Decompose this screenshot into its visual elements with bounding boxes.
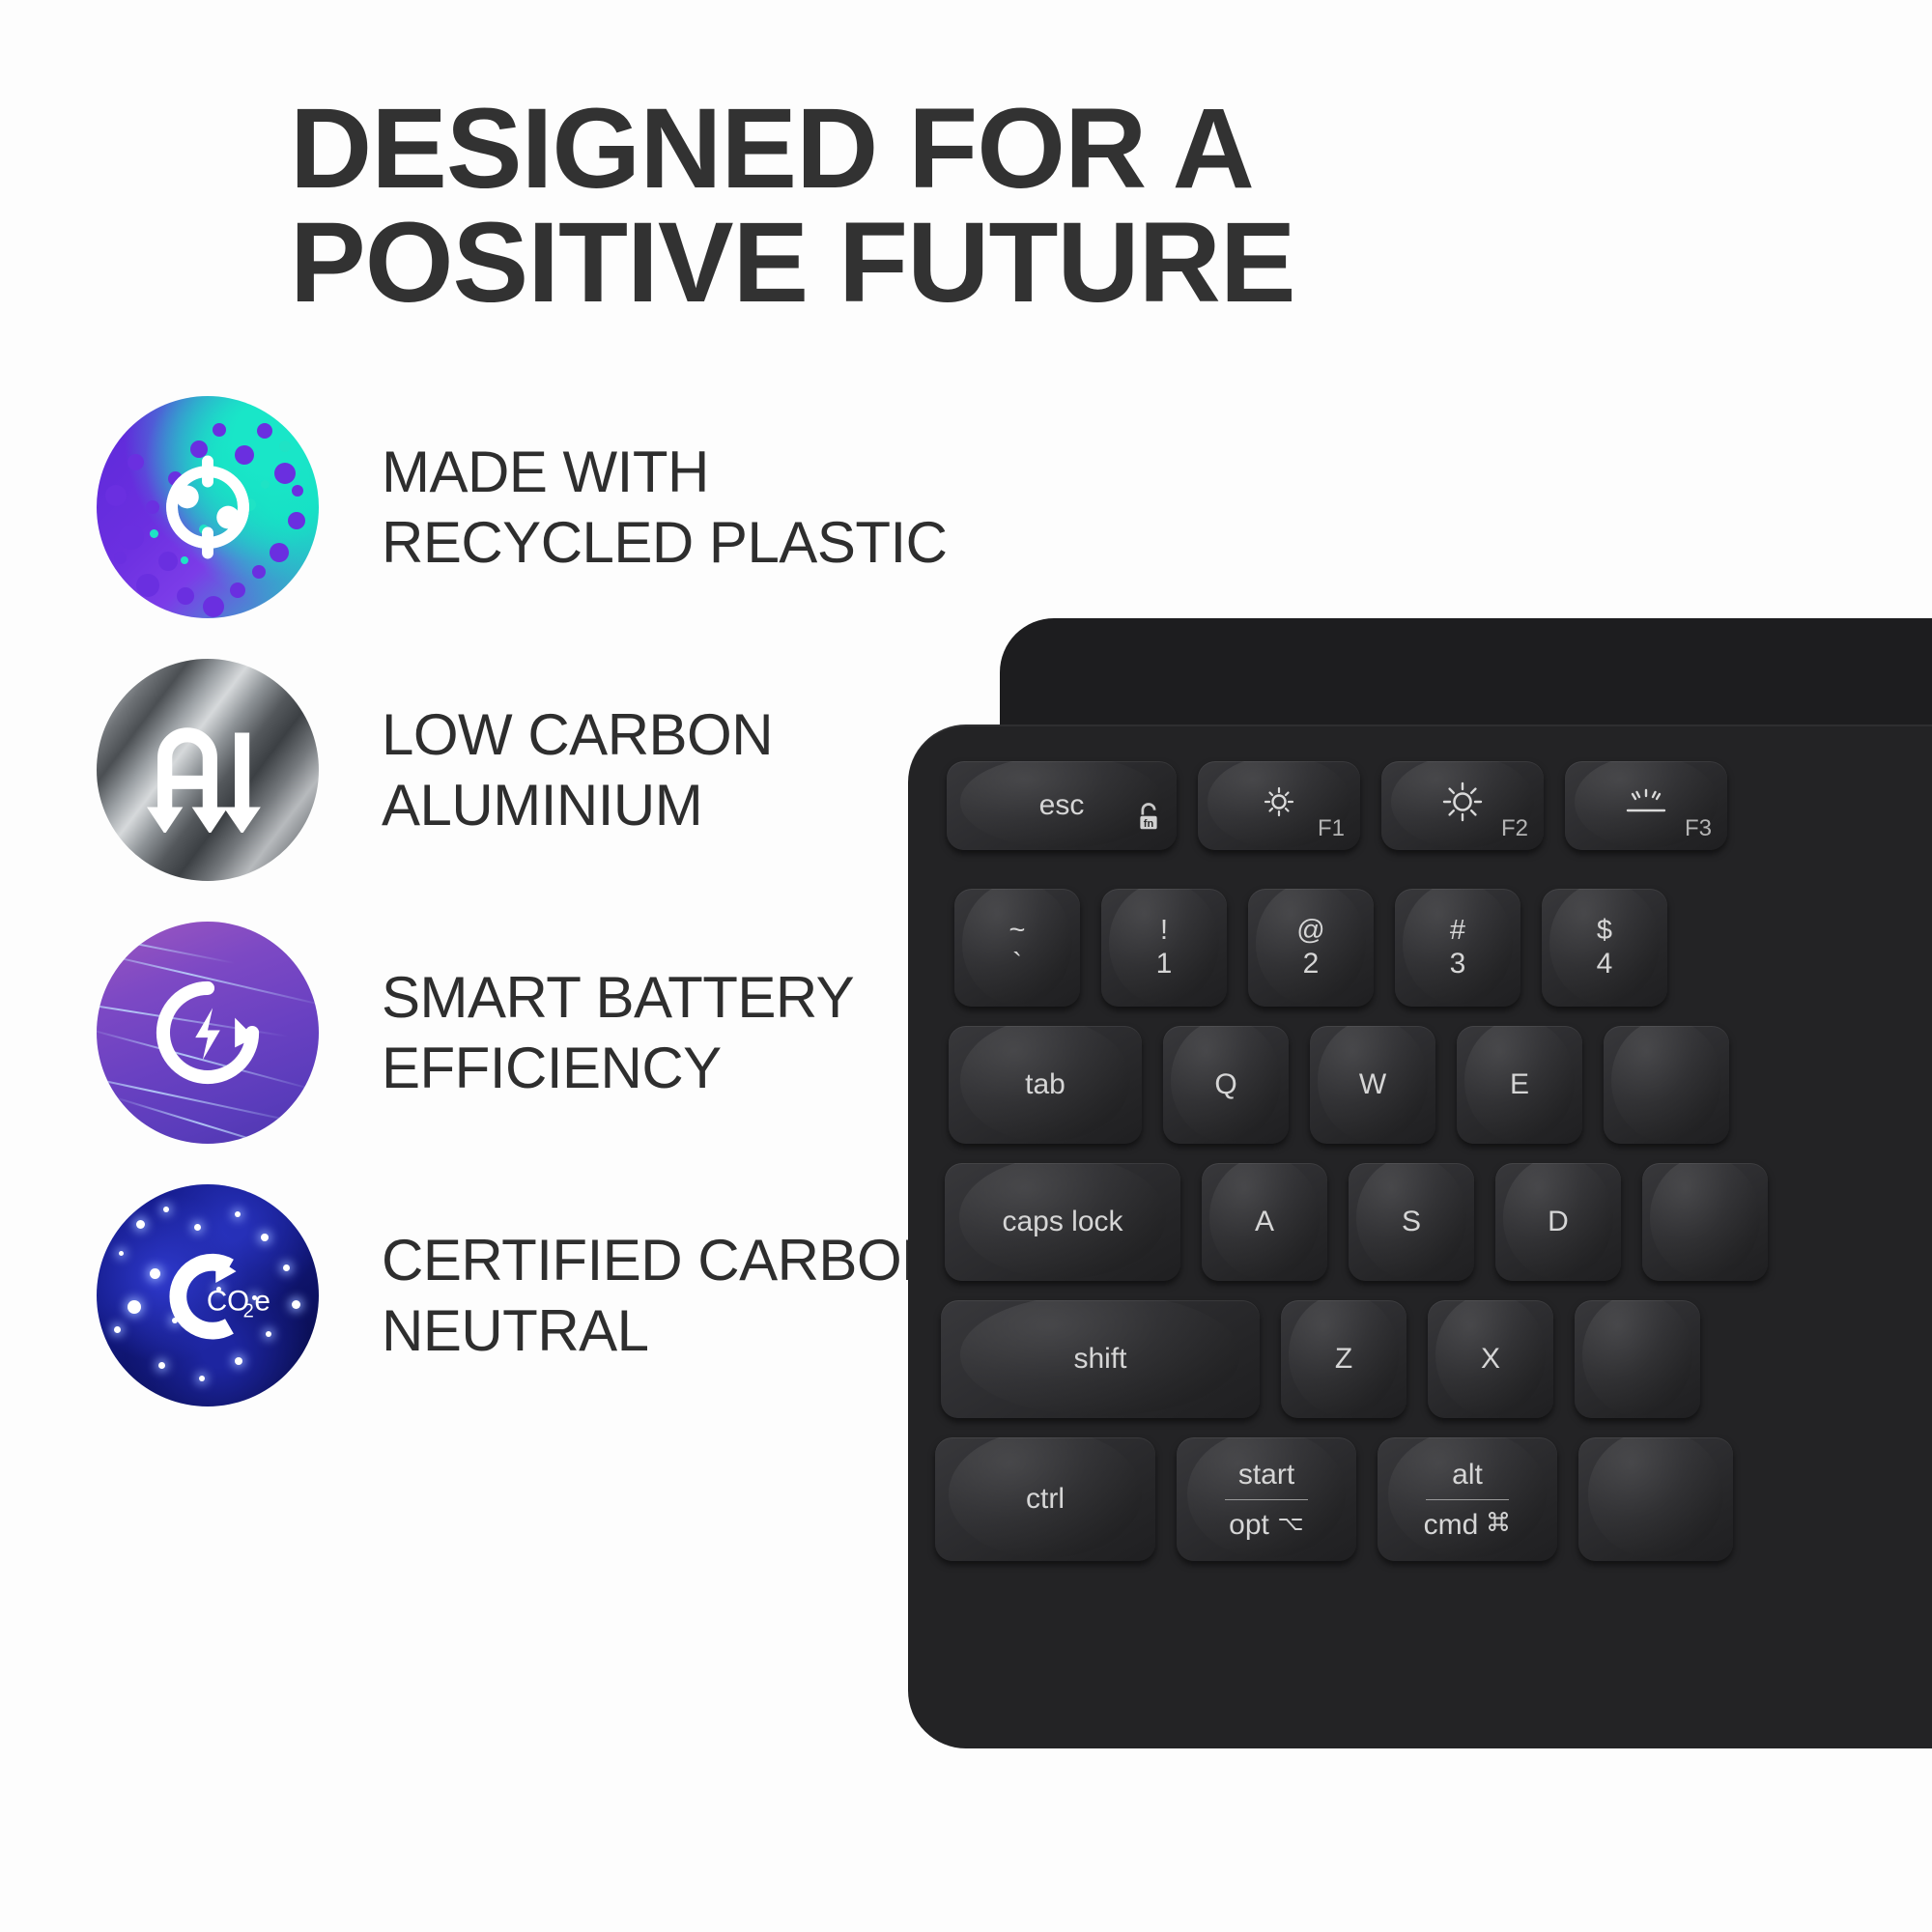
feature-label-line-1: SMART BATTERY <box>382 962 854 1033</box>
key-e[interactable]: E <box>1457 1026 1582 1144</box>
key-start-opt[interactable]: start opt <box>1177 1437 1356 1561</box>
recycled-plastic-icon <box>97 396 319 618</box>
key-f3-label: F3 <box>1685 815 1712 842</box>
key-ctrl-label: ctrl <box>1026 1483 1065 1516</box>
feature-list: MADE WITH RECYCLED PLASTIC <box>97 396 947 1447</box>
keyboard-backlight-icon <box>1620 785 1672 826</box>
key-a-label: A <box>1255 1206 1274 1238</box>
key-f1[interactable]: F1 <box>1198 761 1360 850</box>
page-title-line-1: DESIGNED FOR A <box>290 92 1642 206</box>
brightness-down-icon <box>1260 782 1298 829</box>
key-d-label: D <box>1548 1206 1569 1238</box>
key-4[interactable]: $ 4 <box>1542 889 1667 1007</box>
key-4-top: $ <box>1597 914 1612 947</box>
brightness-up-icon <box>1439 779 1486 833</box>
keyboard-row-asdf: caps lock A S D <box>945 1163 1789 1281</box>
command-icon <box>1486 1506 1511 1544</box>
aluminium-arrows-glyph <box>97 659 319 881</box>
feature-label-line-2: ALUMINIUM <box>382 770 773 840</box>
key-tab[interactable]: tab <box>949 1026 1142 1144</box>
svg-text:fn: fn <box>1144 818 1154 830</box>
key-1-bottom: 1 <box>1156 947 1173 980</box>
svg-text:e: e <box>254 1285 270 1317</box>
key-shift-label: shift <box>1073 1343 1126 1376</box>
key-alt-label: alt <box>1452 1456 1483 1493</box>
feature-item-recycled-plastic: MADE WITH RECYCLED PLASTIC <box>97 396 947 618</box>
key-1-top: ! <box>1160 914 1168 947</box>
key-w-label: W <box>1359 1068 1386 1101</box>
fn-lock-icon: fn <box>1134 802 1163 840</box>
key-c[interactable] <box>1575 1300 1700 1418</box>
feature-item-low-carbon-aluminium: LOW CARBON ALUMINIUM <box>97 659 947 881</box>
co2e-glyph: CO 2 e <box>97 1184 319 1406</box>
key-1[interactable]: ! 1 <box>1101 889 1227 1007</box>
key-f[interactable] <box>1642 1163 1768 1281</box>
feature-item-smart-battery: SMART BATTERY EFFICIENCY <box>97 922 947 1144</box>
key-spacebar[interactable] <box>1578 1437 1733 1561</box>
key-divider <box>1426 1499 1509 1500</box>
feature-label-smart-battery: SMART BATTERY EFFICIENCY <box>382 962 854 1103</box>
feature-label-line-1: MADE WITH <box>382 437 948 507</box>
recycle-loop-glyph <box>97 396 319 618</box>
feature-label-low-carbon-aluminium: LOW CARBON ALUMINIUM <box>382 699 773 840</box>
key-s[interactable]: S <box>1349 1163 1474 1281</box>
feature-label-line-1: CERTIFIED CARBON <box>382 1225 943 1295</box>
key-esc-label: esc <box>1039 789 1085 822</box>
feature-label-line-2: NEUTRAL <box>382 1295 943 1366</box>
svg-text:2: 2 <box>243 1300 254 1321</box>
key-opt-label: opt <box>1229 1506 1269 1544</box>
key-alt-cmd[interactable]: alt cmd <box>1378 1437 1557 1561</box>
low-carbon-aluminium-icon <box>97 659 319 881</box>
key-4-bottom: 4 <box>1597 947 1613 980</box>
certified-carbon-neutral-icon: CO 2 e <box>97 1184 319 1406</box>
keyboard-product-image: esc fn <box>908 618 1932 1739</box>
key-a[interactable]: A <box>1202 1163 1327 1281</box>
keyboard-row-function: esc fn <box>947 761 1748 850</box>
keyboard-row-zxcv: shift Z X <box>941 1300 1721 1418</box>
key-s-label: S <box>1402 1206 1421 1238</box>
key-z-label: Z <box>1335 1343 1352 1376</box>
key-cmd-label: cmd <box>1424 1506 1479 1544</box>
key-q[interactable]: Q <box>1163 1026 1289 1144</box>
feature-label-line-2: RECYCLED PLASTIC <box>382 507 948 578</box>
keyboard-key-rows: esc fn <box>908 724 1932 1748</box>
key-tab-label: tab <box>1025 1068 1065 1101</box>
key-shift[interactable]: shift <box>941 1300 1260 1418</box>
key-z[interactable]: Z <box>1281 1300 1406 1418</box>
key-ctrl[interactable]: ctrl <box>935 1437 1155 1561</box>
key-start-label: start <box>1238 1456 1294 1493</box>
key-d[interactable]: D <box>1495 1163 1621 1281</box>
page-title: DESIGNED FOR A POSITIVE FUTURE <box>290 92 1642 320</box>
key-esc[interactable]: esc fn <box>947 761 1177 850</box>
smart-battery-icon <box>97 922 319 1144</box>
keyboard-row-numbers: ~ ` ! 1 @ 2 <box>954 889 1689 1007</box>
key-2-bottom: 2 <box>1303 947 1320 980</box>
key-w[interactable]: W <box>1310 1026 1435 1144</box>
keyboard-chassis: esc fn <box>908 724 1932 1748</box>
feature-label-line-1: LOW CARBON <box>382 699 773 770</box>
key-2-top: @ <box>1296 914 1324 947</box>
key-r[interactable] <box>1604 1026 1729 1144</box>
key-3[interactable]: # 3 <box>1395 889 1520 1007</box>
feature-label-line-2: EFFICIENCY <box>382 1033 854 1103</box>
key-2[interactable]: @ 2 <box>1248 889 1374 1007</box>
key-x-label: X <box>1481 1343 1500 1376</box>
key-tilde[interactable]: ~ ` <box>954 889 1080 1007</box>
feature-label-recycled-plastic: MADE WITH RECYCLED PLASTIC <box>382 437 948 578</box>
key-caps-lock[interactable]: caps lock <box>945 1163 1180 1281</box>
option-icon <box>1277 1506 1304 1544</box>
battery-refresh-bolt-glyph <box>97 922 319 1144</box>
key-f2-label: F2 <box>1501 815 1528 842</box>
keyboard-row-qwerty: tab Q W E <box>949 1026 1750 1144</box>
page-title-line-2: POSITIVE FUTURE <box>290 206 1642 320</box>
key-divider <box>1225 1499 1308 1500</box>
key-3-bottom: 3 <box>1450 947 1466 980</box>
key-f3[interactable]: F3 <box>1565 761 1727 850</box>
feature-label-certified-carbon-neutral: CERTIFIED CARBON NEUTRAL <box>382 1225 943 1366</box>
key-3-top: # <box>1450 914 1465 947</box>
key-tilde-top: ~ <box>1009 914 1026 947</box>
key-x[interactable]: X <box>1428 1300 1553 1418</box>
feature-item-certified-carbon-neutral: CO 2 e CERTIFIED CARBON NEUTRAL <box>97 1184 947 1406</box>
key-tilde-bottom: ` <box>1012 947 1022 980</box>
key-e-label: E <box>1510 1068 1529 1101</box>
key-caps-lock-label: caps lock <box>1002 1206 1122 1238</box>
key-q-label: Q <box>1214 1068 1236 1101</box>
key-f2[interactable]: F2 <box>1381 761 1544 850</box>
key-f1-label: F1 <box>1318 815 1345 842</box>
keyboard-row-modifiers: ctrl start opt <box>935 1437 1754 1561</box>
